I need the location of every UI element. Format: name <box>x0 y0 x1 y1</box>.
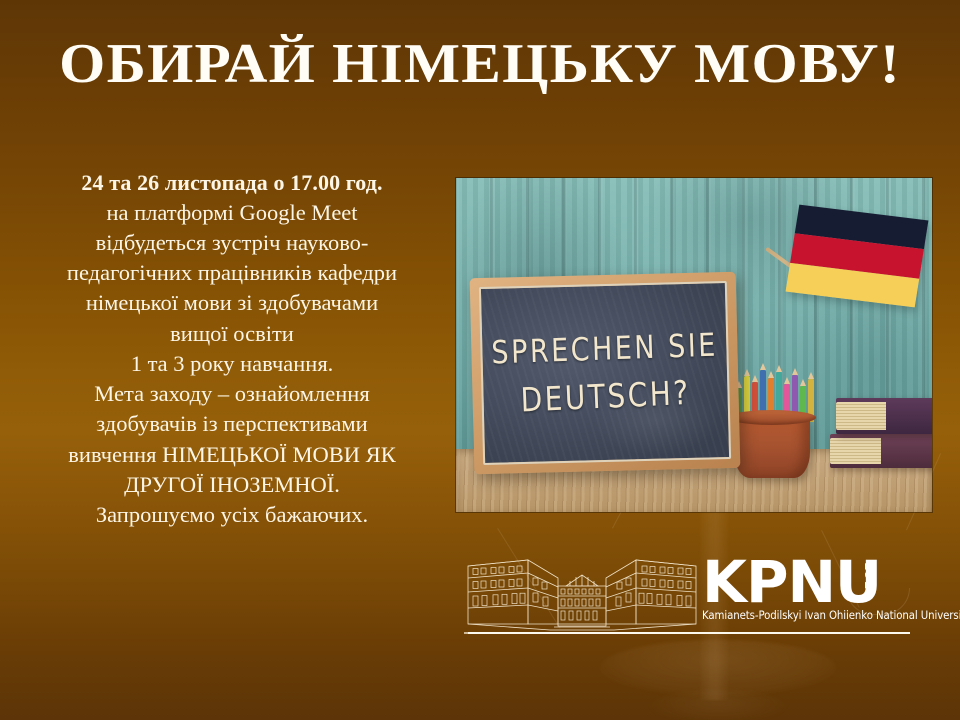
announcement-line: німецької мови зі здобувачами <box>14 288 450 318</box>
book-pages <box>830 438 881 464</box>
announcement-line: Запрошуємо усіх бажаючих. <box>14 500 450 530</box>
kpnu-university-name: Kamianets-Podilskyi Ivan Ohiienko Nation… <box>702 610 914 622</box>
kpnu-acronym: KPNU <box>702 556 914 609</box>
pencil-pot <box>734 416 810 478</box>
announcement-text: 24 та 26 листопада о 17.00 год. на платф… <box>14 168 450 530</box>
kpnu-logo: KPNU 1918 Kamianets-Podilskyi Ivan Ohiie… <box>462 548 914 668</box>
book-pages <box>836 402 886 430</box>
announcement-line: ДРУГОЇ ІНОЗЕМНОЇ. <box>14 470 450 500</box>
poster-canvas: ОБИРАЙ НІМЕЦЬКУ МОВУ! 24 та 26 листопада… <box>0 0 960 720</box>
german-classroom-photo: SPRECHEN SIE DEUTSCH? <box>456 178 932 512</box>
pedestal-foot-decor <box>648 690 788 720</box>
chalkboard-line-1: SPRECHEN SIE <box>491 327 718 371</box>
announcement-line: здобувачів із перспективами <box>14 409 450 439</box>
chalkboard-line-2: DEUTSCH? <box>520 373 691 420</box>
announcement-line: 24 та 26 листопада о 17.00 год. <box>14 168 450 198</box>
chalkboard: SPRECHEN SIE DEUTSCH? <box>470 272 741 474</box>
announcement-line: вивчення НІМЕЦЬКОЇ МОВИ ЯК <box>14 440 450 470</box>
announcement-line: 1 та 3 року навчання. <box>14 349 450 379</box>
page-title: ОБИРАЙ НІМЕЦЬКУ МОВУ! <box>0 36 960 92</box>
announcement-line: на платформі Google Meet <box>14 198 450 228</box>
announcement-line: вищої освіти <box>14 319 450 349</box>
book-top <box>836 398 932 434</box>
chalkboard-text: SPRECHEN SIE DEUTSCH? <box>481 283 729 463</box>
logo-underline <box>468 632 910 634</box>
pencil-pot-rim <box>728 410 816 425</box>
german-flag <box>778 206 924 336</box>
flag-bands <box>786 205 929 308</box>
university-building-icon <box>462 548 702 636</box>
announcement-line: педагогічних працівників кафедри <box>14 258 450 288</box>
chalkboard-surface: SPRECHEN SIE DEUTSCH? <box>479 281 731 465</box>
announcement-line: відбудеться зустріч науково- <box>14 228 450 258</box>
kpnu-wordmark: KPNU 1918 Kamianets-Podilskyi Ivan Ohiie… <box>702 556 914 621</box>
kpnu-year: 1918 <box>862 562 876 599</box>
announcement-line: Мета заходу – ознайомлення <box>14 379 450 409</box>
book-bottom <box>830 434 932 468</box>
